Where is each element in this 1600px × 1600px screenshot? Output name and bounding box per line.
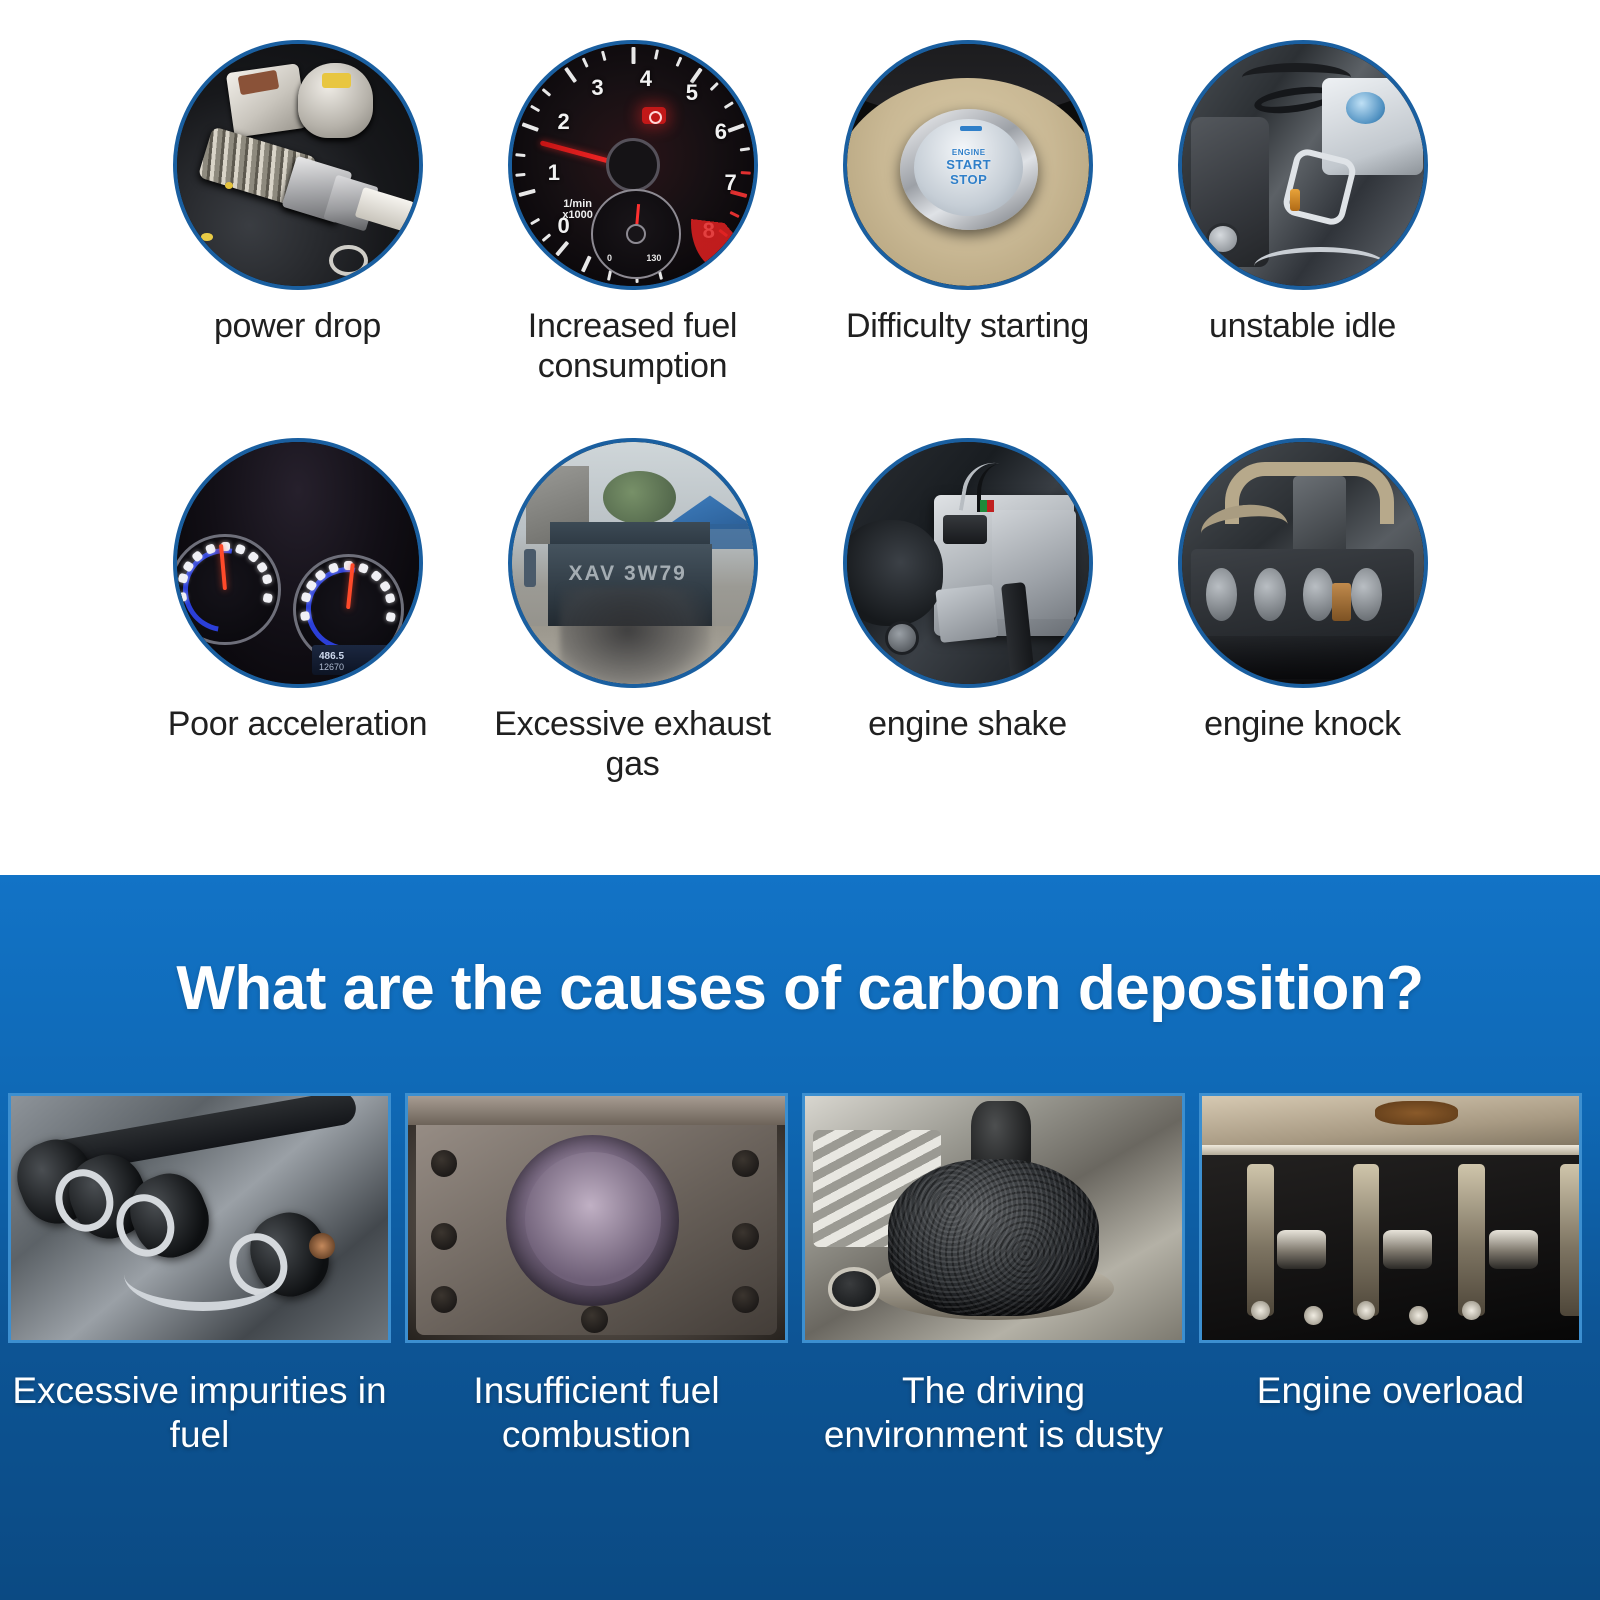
button-line-stop: STOP [950, 172, 987, 187]
tach-number-6: 6 [715, 119, 727, 145]
tach-unit-label: 1/min x1000 [562, 199, 593, 222]
tach-unit-line1: 1/min [563, 198, 592, 210]
tach-number-1: 1 [548, 160, 560, 186]
symptom-label: Poor acceleration [168, 704, 428, 744]
symptom-item-engine-shake: engine shake [800, 438, 1135, 784]
tach-number-4: 4 [640, 66, 652, 92]
cause-item-insufficient-combustion: Insufficient fuel combustion [405, 1093, 788, 1458]
temp-gauge-max: 130 [646, 253, 661, 263]
cause-label: The driving environment is dusty [802, 1369, 1185, 1458]
symptoms-section: power drop [0, 0, 1600, 875]
dirty-fuel-injectors-photo [8, 1093, 391, 1343]
symptom-label: Difficulty starting [846, 306, 1089, 346]
carbon-fouled-piston-photo [405, 1093, 788, 1343]
odometer-trip-value: 486.5 [319, 651, 344, 662]
smoking-truck-photo: XAV 3W79 [508, 438, 758, 688]
engine-bay-photo [1178, 40, 1428, 290]
symptom-item-excessive-exhaust-gas: XAV 3W79 Excessive exhaust gas [465, 438, 800, 784]
symptom-item-difficulty-starting: ENGINE START STOP Difficulty starting [800, 40, 1135, 386]
cause-label: Excessive impurities in fuel [8, 1369, 391, 1458]
page-title: What are the causes of carbon deposition… [0, 953, 1600, 1024]
symptom-label: engine shake [868, 704, 1067, 744]
symptom-label: Increased fuel consumption [473, 306, 793, 386]
odometer-total-value: 12670 [319, 662, 344, 672]
symptom-label: engine knock [1204, 704, 1401, 744]
odometer-display: 486.5 12670 [312, 645, 399, 674]
symptom-item-engine-knock: engine knock [1135, 438, 1470, 784]
engine-warning-light-icon [642, 107, 666, 124]
tach-number-5: 5 [686, 80, 698, 106]
tach-number-2: 2 [557, 109, 569, 135]
cause-item-engine-overload: Engine overload [1199, 1093, 1582, 1458]
carbon-caked-valve-photo [802, 1093, 1185, 1343]
carbon-fouled-cylinder-head-photo [1199, 1093, 1582, 1343]
cause-label: Engine overload [1257, 1369, 1524, 1413]
engine-block-photo [1178, 438, 1428, 688]
spark-plug-photo [173, 40, 423, 290]
symptom-label: Excessive exhaust gas [473, 704, 793, 784]
coolant-temp-gauge: 0 130 [591, 189, 681, 279]
tachometer-photo: 0 1 2 3 4 5 6 7 8 1/min [508, 40, 758, 290]
temp-gauge-min: 0 [607, 253, 612, 263]
throttle-body-photo [843, 438, 1093, 688]
causes-section: What are the causes of carbon deposition… [0, 875, 1600, 1600]
symptom-item-unstable-idle: unstable idle [1135, 40, 1470, 386]
symptom-label: unstable idle [1209, 306, 1396, 346]
tach-number-3: 3 [591, 75, 603, 101]
symptoms-row-1: power drop [130, 40, 1470, 386]
symptom-label: power drop [214, 306, 381, 346]
start-stop-button-face: ENGINE START STOP [914, 119, 1023, 216]
symptom-item-increased-fuel-consumption: 0 1 2 3 4 5 6 7 8 1/min [465, 40, 800, 386]
infographic-page: power drop [0, 0, 1600, 1600]
dashboard-gauges-photo: 486.5 12670 [173, 438, 423, 688]
causes-grid: Excessive impurities in fuel [0, 1093, 1600, 1458]
symptom-item-poor-acceleration: 486.5 12670 Poor acceleration [130, 438, 465, 784]
exhaust-smoke [560, 587, 710, 684]
button-line-start: START [946, 157, 991, 172]
symptoms-row-2: 486.5 12670 Poor acceleration XAV 3W79 [130, 438, 1470, 784]
engine-start-stop-button-photo: ENGINE START STOP [843, 40, 1093, 290]
symptom-item-power-drop: power drop [130, 40, 465, 386]
button-line-engine: ENGINE [952, 148, 986, 157]
cause-item-dusty-environment: The driving environment is dusty [802, 1093, 1185, 1458]
truck-license-plate: XAV 3W79 [557, 558, 697, 589]
cause-item-impurities-in-fuel: Excessive impurities in fuel [8, 1093, 391, 1458]
tach-unit-line2: x1000 [562, 209, 593, 221]
cause-label: Insufficient fuel combustion [405, 1369, 788, 1458]
